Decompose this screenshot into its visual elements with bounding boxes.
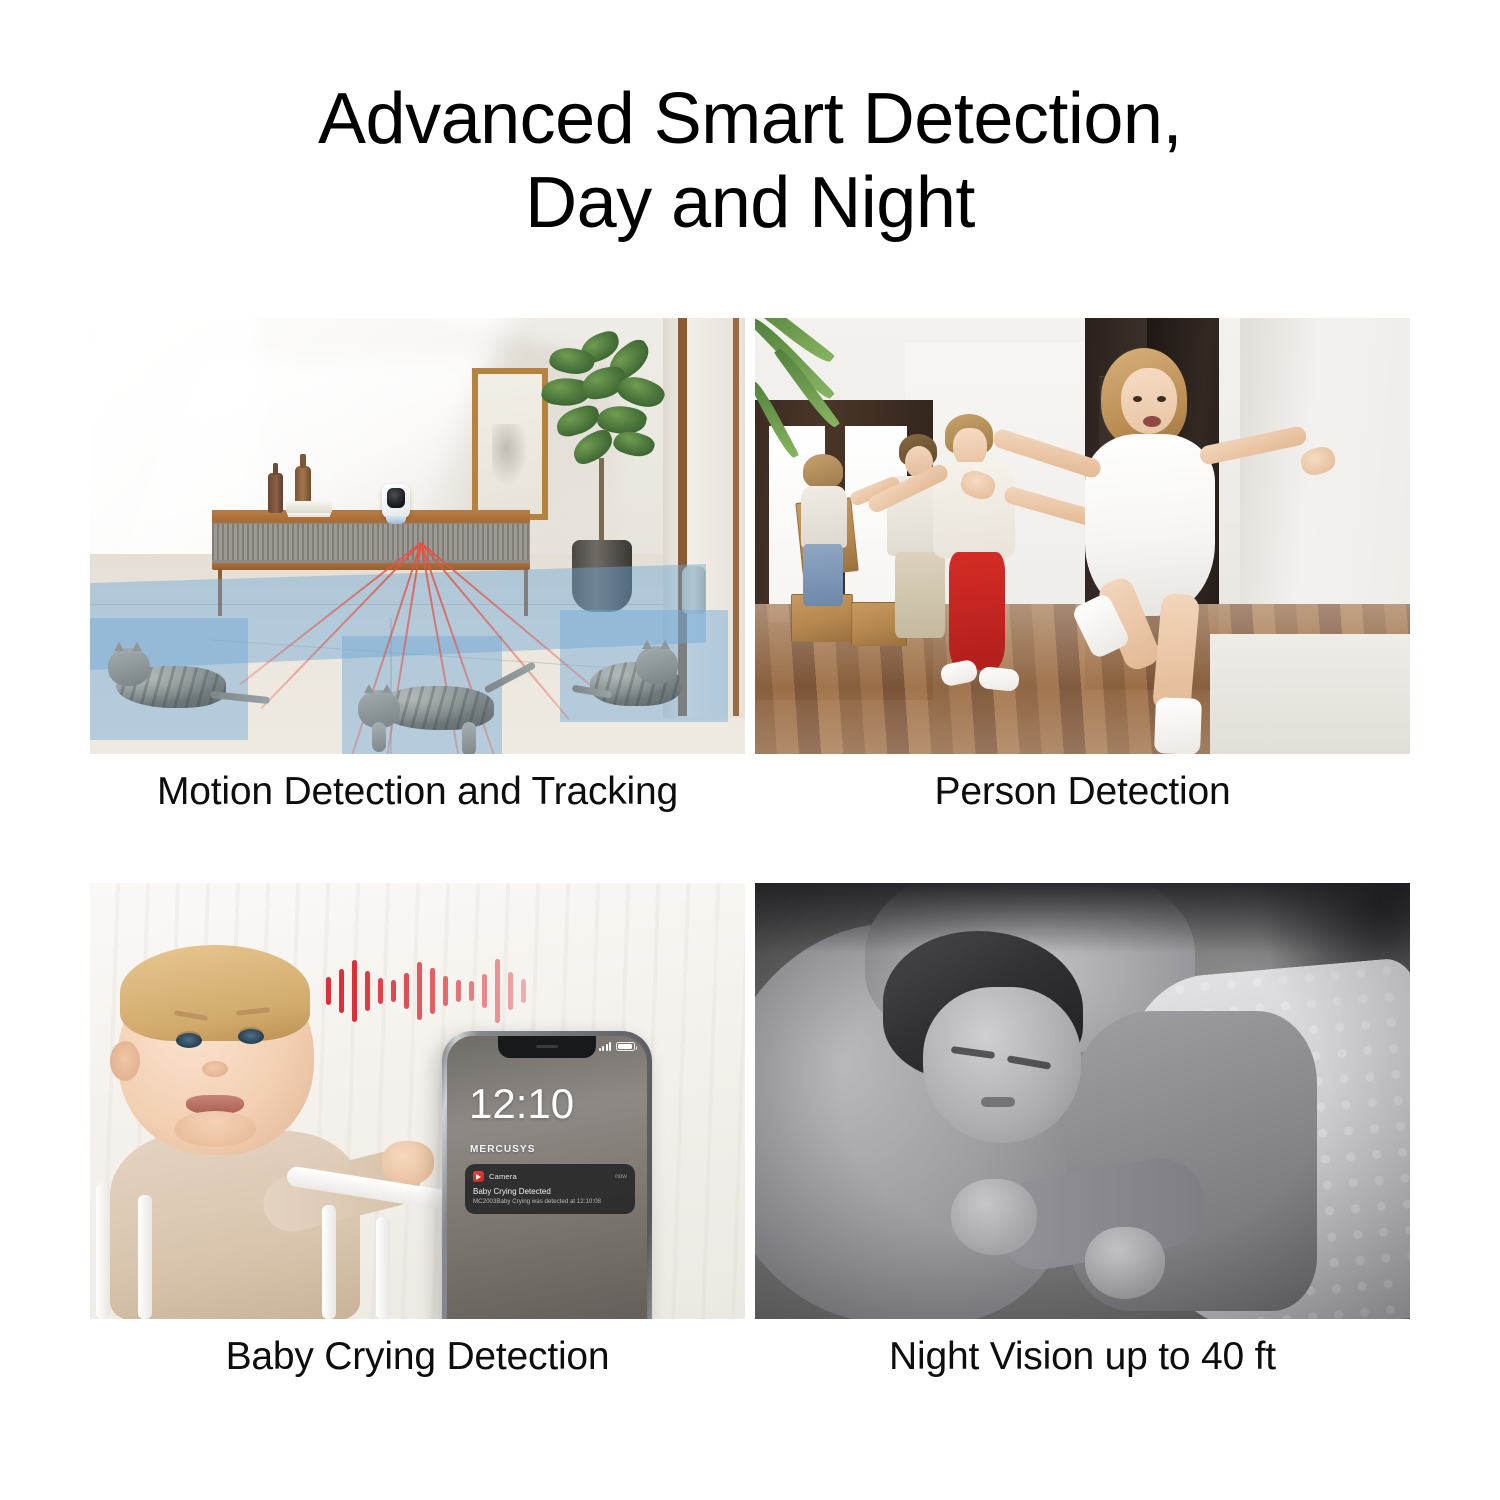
baby-eye [176, 1033, 202, 1048]
crib-bar [96, 1183, 110, 1319]
plant-foliage [542, 334, 668, 470]
notification-title: Baby Crying Detected [473, 1187, 627, 1196]
baby-chin [174, 1111, 256, 1147]
feature-card-baby-crying-detection: 12:10 MERCUSYS Camera now Baby Crying De… [90, 883, 745, 1448]
camera-base [386, 516, 406, 524]
stacked-books [286, 501, 332, 513]
baby-ear [110, 1041, 140, 1081]
camera-lens [387, 488, 405, 508]
notification-body: MC2003Baby Crying was detected at 12:10:… [473, 1198, 627, 1206]
sideboard-leg [218, 568, 222, 616]
sideboard-leg [524, 568, 528, 616]
feature-card-motion-detection: Motion Detection and Tracking [90, 318, 745, 883]
floor-seam [90, 604, 745, 605]
notification-header: Camera now [473, 1171, 627, 1182]
product-feature-page: Advanced Smart Detection, Day and Night [0, 0, 1500, 1500]
baby-eye [238, 1029, 264, 1044]
floor-vase [682, 566, 706, 614]
notification-group-label: MERCUSYS [470, 1144, 535, 1155]
image-vignette [755, 883, 1410, 1319]
page-title-line-2: Day and Night [0, 162, 1500, 246]
page-title: Advanced Smart Detection, Day and Night [0, 78, 1500, 245]
notification-app-name: Camera [489, 1172, 517, 1181]
sideboard-slats [212, 524, 530, 560]
feature-caption-motion-detection: Motion Detection and Tracking [90, 770, 745, 814]
phone-status-bar [599, 1042, 636, 1051]
baby-hair [120, 945, 310, 1041]
floor-light-area [1210, 634, 1410, 754]
girl-sock [1154, 697, 1202, 754]
window-mullion [678, 318, 687, 716]
crib-bar [376, 1217, 390, 1319]
window-mullion [733, 318, 739, 716]
feature-caption-person-detection: Person Detection [755, 770, 1410, 814]
baby-crying-image: 12:10 MERCUSYS Camera now Baby Crying De… [90, 883, 745, 1319]
push-notification[interactable]: Camera now Baby Crying Detected MC2003Ba… [465, 1164, 635, 1214]
notification-timestamp: now [615, 1173, 627, 1180]
feature-caption-night-vision: Night Vision up to 40 ft [755, 1335, 1410, 1379]
plant-trunk [599, 458, 604, 544]
plant-pot [572, 540, 632, 612]
feature-card-night-vision: Night Vision up to 40 ft [755, 883, 1410, 1448]
boy-trousers [949, 552, 1005, 670]
feature-card-person-detection: Person Detection [755, 318, 1410, 883]
night-vision-image [755, 883, 1410, 1319]
decorative-vase [268, 473, 283, 513]
crib-bar [322, 1205, 336, 1319]
framed-artwork [472, 368, 548, 520]
feature-caption-baby-crying-detection: Baby Crying Detection [90, 1335, 745, 1379]
baby-hand [382, 1141, 434, 1185]
sideboard [212, 514, 530, 570]
baby-nose [202, 1061, 228, 1077]
phone-earpiece [536, 1045, 558, 1048]
phone-screen[interactable]: 12:10 MERCUSYS Camera now Baby Crying De… [447, 1036, 647, 1319]
page-title-line-1: Advanced Smart Detection, [0, 78, 1500, 162]
crib-bar [138, 1195, 152, 1319]
artwork-canvas [478, 374, 542, 514]
sound-wave-graphic [326, 945, 526, 1037]
motion-detection-image [90, 318, 745, 754]
feature-grid: Motion Detection and Tracking [90, 318, 1410, 1408]
person-detection-image [755, 318, 1410, 754]
smartphone[interactable]: 12:10 MERCUSYS Camera now Baby Crying De… [442, 1031, 652, 1319]
battery-icon [616, 1042, 635, 1051]
camera-app-icon [473, 1171, 484, 1182]
signal-bars-icon [599, 1042, 612, 1051]
lockscreen-clock: 12:10 [469, 1080, 574, 1128]
security-camera-device [382, 484, 410, 518]
